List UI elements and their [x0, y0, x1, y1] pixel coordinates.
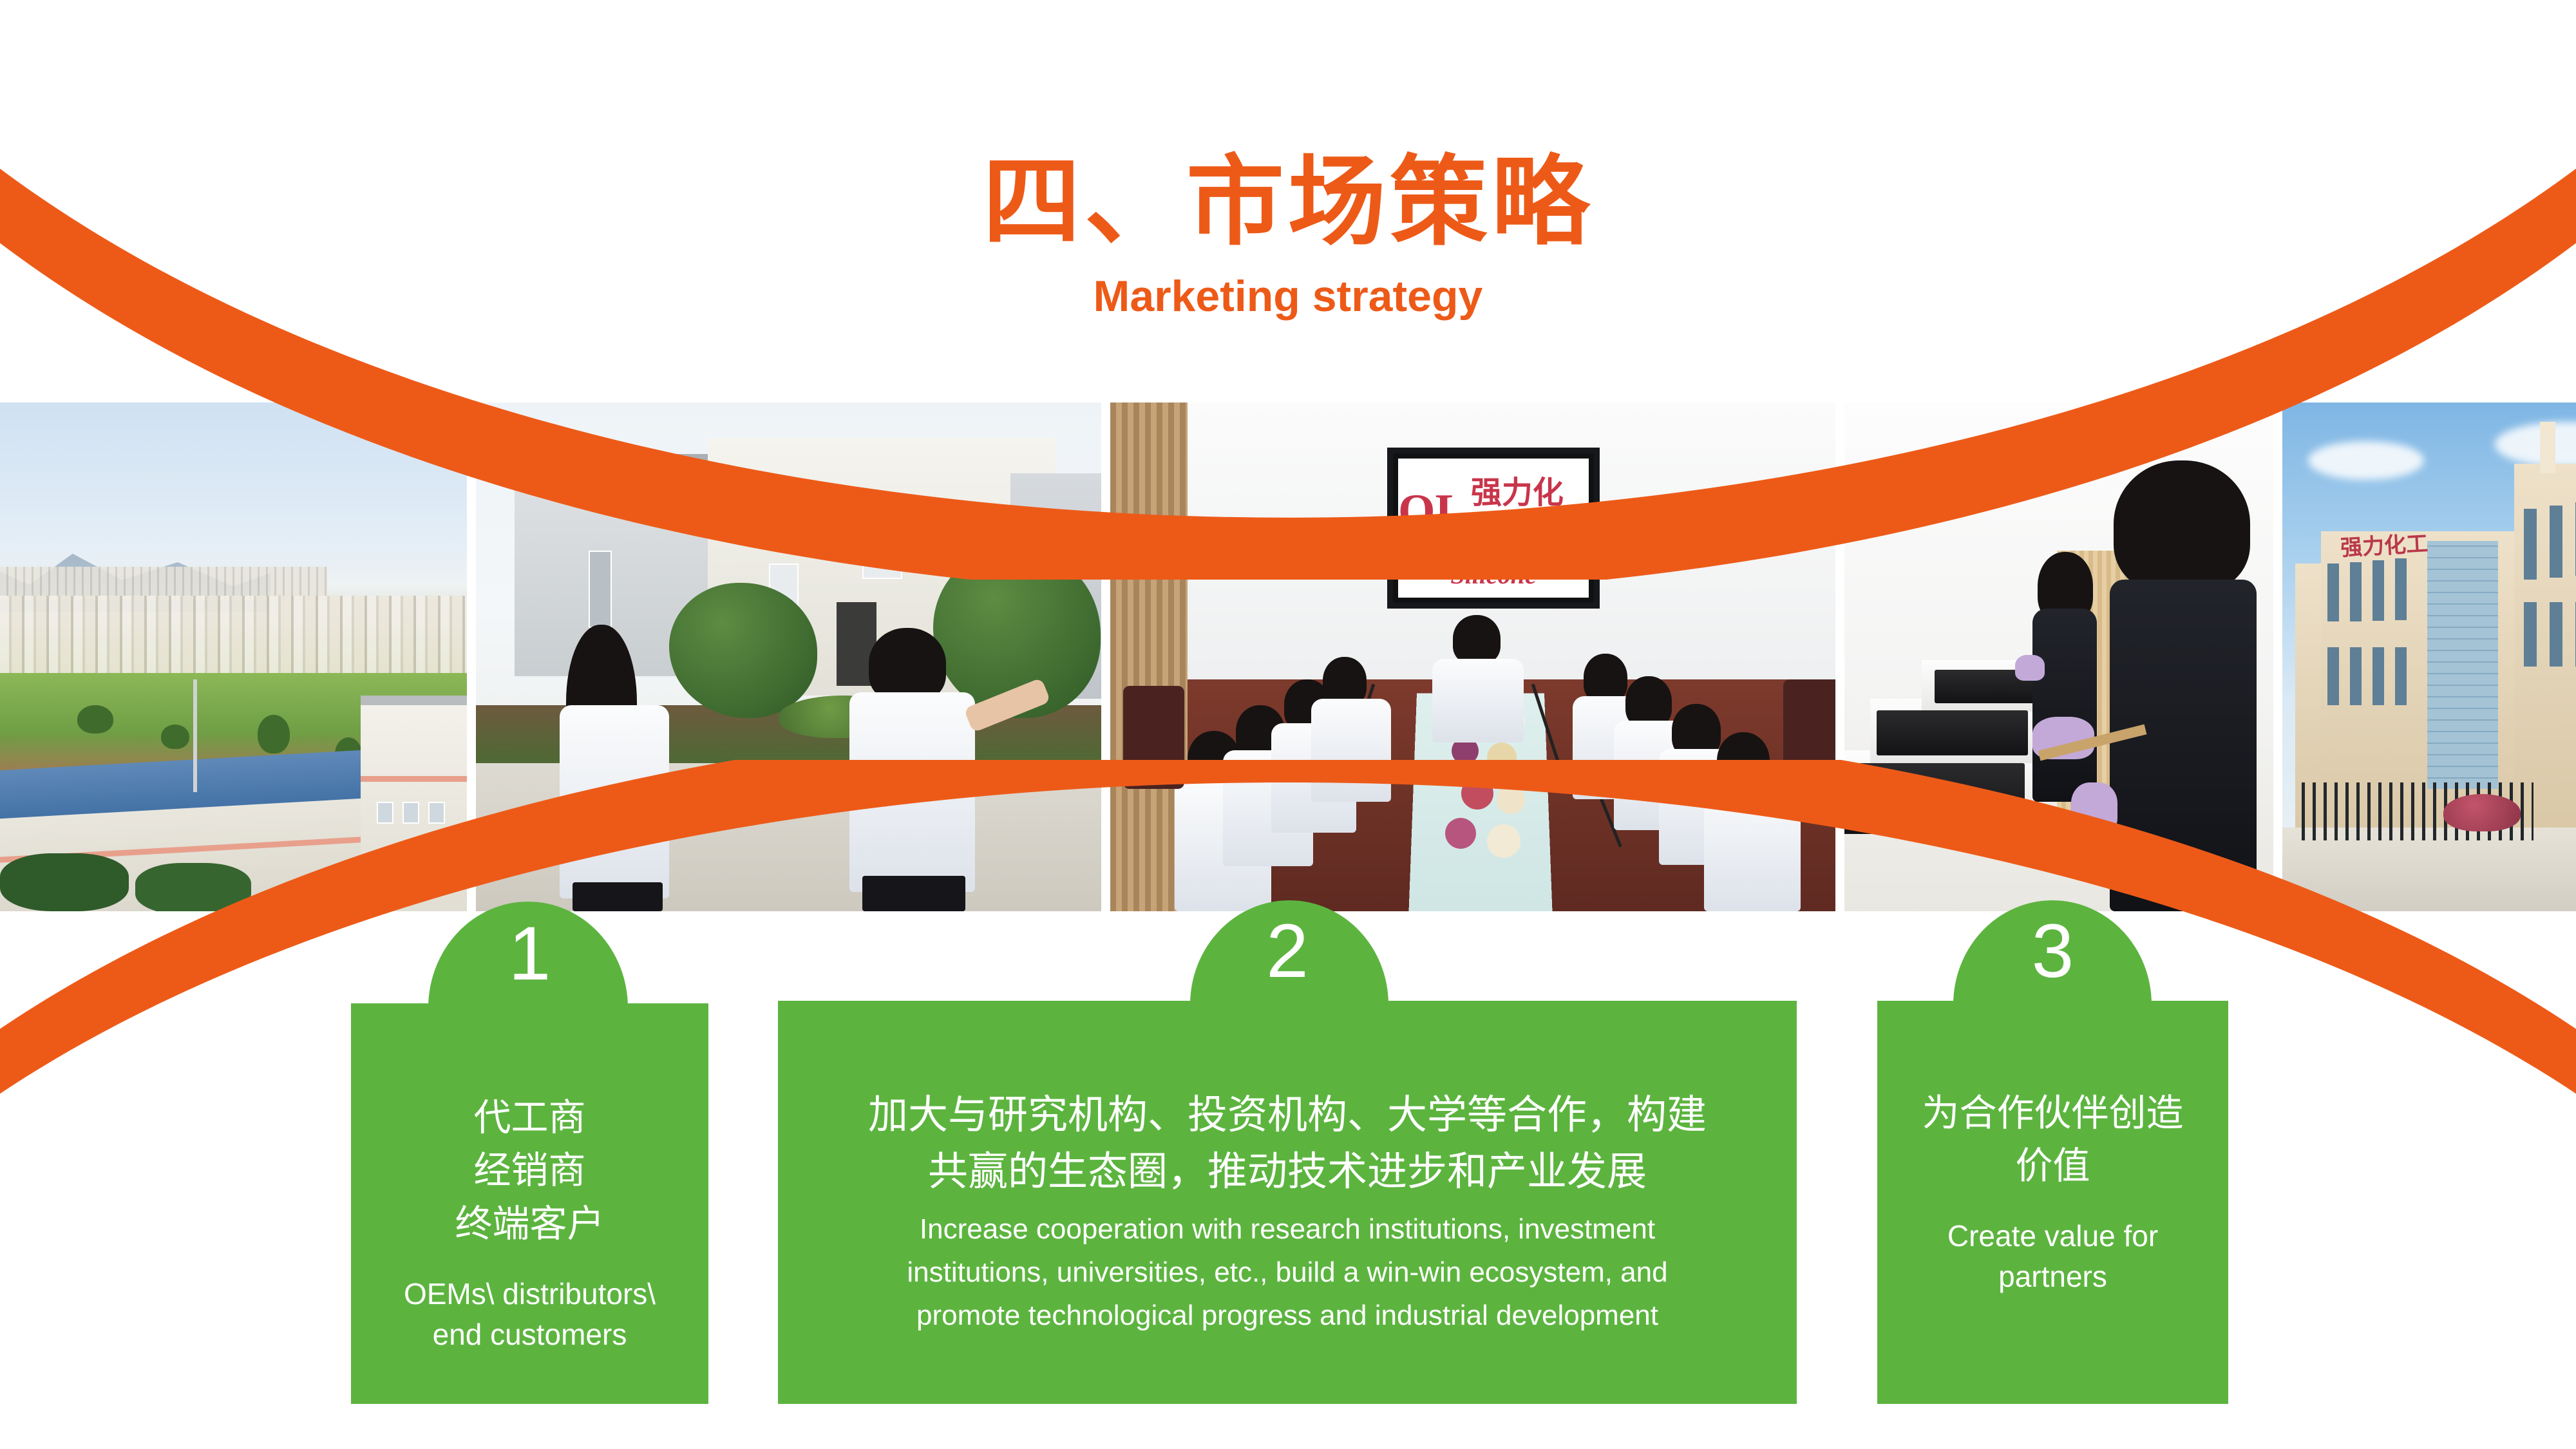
window: [428, 802, 445, 824]
cloud: [2308, 441, 2424, 480]
flower: [1487, 824, 1520, 858]
logo-text-en: Silicone: [1450, 560, 1536, 590]
lab-instrument: [1877, 710, 2028, 755]
flower-bed: [2443, 794, 2521, 831]
glass-curtain-wall: [2427, 541, 2498, 789]
wall-accent-line: [361, 776, 467, 782]
page-title-cn: 四、市场策略: [0, 151, 2576, 254]
logo-mark: QL: [1398, 484, 1467, 539]
logo-text-cn: 强力化工: [1471, 467, 1589, 557]
window: [402, 802, 419, 824]
card-text-en: OEMs\ distributors\ end customers: [351, 1274, 708, 1356]
window: [2550, 602, 2562, 667]
window: [2327, 563, 2339, 621]
chair: [1123, 686, 1184, 789]
card-create-value[interactable]: 3 为合作伙伴创造 价值 Create value for partners: [1877, 900, 2228, 1404]
flower: [1461, 777, 1493, 810]
slide-header: 四、市场策略 Marketing strategy: [0, 151, 2576, 321]
card-text-en: Increase cooperation with research insti…: [778, 1208, 1797, 1338]
window: [589, 551, 612, 628]
chair: [1783, 679, 1835, 776]
presentation-screen: QL 强力化工 Silicone: [1387, 448, 1600, 609]
window: [2524, 509, 2537, 580]
card-number: 3: [1877, 913, 2228, 989]
window: [862, 531, 902, 579]
card-text-cn: 代工商 经销商 终端客户: [351, 1092, 708, 1251]
flower: [1487, 743, 1517, 772]
photo-lab: [1835, 402, 2273, 911]
photo-factory-aerial: [0, 402, 467, 911]
window: [2372, 647, 2384, 705]
bush: [77, 705, 113, 734]
flower: [1497, 786, 1525, 814]
window: [2327, 647, 2339, 705]
window: [2395, 558, 2407, 620]
photo-conference: QL 强力化工 Silicone: [1101, 402, 1835, 911]
roof-frame: [2540, 422, 2555, 473]
flower: [1445, 818, 1476, 849]
photo-office: 强力化工: [2273, 402, 2576, 911]
card-body: [1877, 1001, 2228, 1404]
card-text-en: Create value for partners: [1877, 1216, 2228, 1298]
screen-content: QL 强力化工 Silicone: [1398, 459, 1589, 598]
window: [2350, 562, 2362, 621]
card-number: 2: [778, 913, 1797, 989]
bush: [258, 715, 290, 753]
street-lamp: [193, 679, 197, 792]
building-sign: 强力化工: [2340, 526, 2429, 562]
window: [2395, 647, 2407, 705]
card-oems-distributors[interactable]: 1 代工商 经销商 终端客户 OEMs\ distributors\ end c…: [351, 902, 708, 1404]
slide-canvas: QL 强力化工 Silicone: [0, 0, 2576, 1449]
window: [2350, 647, 2362, 705]
card-text-cn: 加大与研究机构、投资机构、大学等合作，构建 共赢的生态圈，推动技术进步和产业发展: [778, 1087, 1797, 1200]
photo-strip: QL 强力化工 Silicone: [0, 402, 2576, 911]
window: [2372, 560, 2384, 621]
bush: [161, 724, 189, 749]
hedge: [0, 853, 129, 911]
card-text-cn: 为合作伙伴创造 价值: [1877, 1087, 2228, 1193]
window: [377, 802, 393, 824]
card-cooperation-ecosystem[interactable]: 2 加大与研究机构、投资机构、大学等合作，构建 共赢的生态圈，推动技术进步和产业…: [778, 900, 1797, 1404]
hedge: [135, 863, 251, 911]
page-title-en: Marketing strategy: [0, 271, 2576, 321]
card-body: [778, 1001, 1797, 1404]
window: [2550, 506, 2562, 578]
window: [2524, 602, 2537, 667]
lab-instrument: [1835, 763, 2025, 834]
photo-site-tour: [467, 402, 1101, 911]
town-near: [0, 596, 467, 673]
card-number: 1: [351, 916, 708, 992]
